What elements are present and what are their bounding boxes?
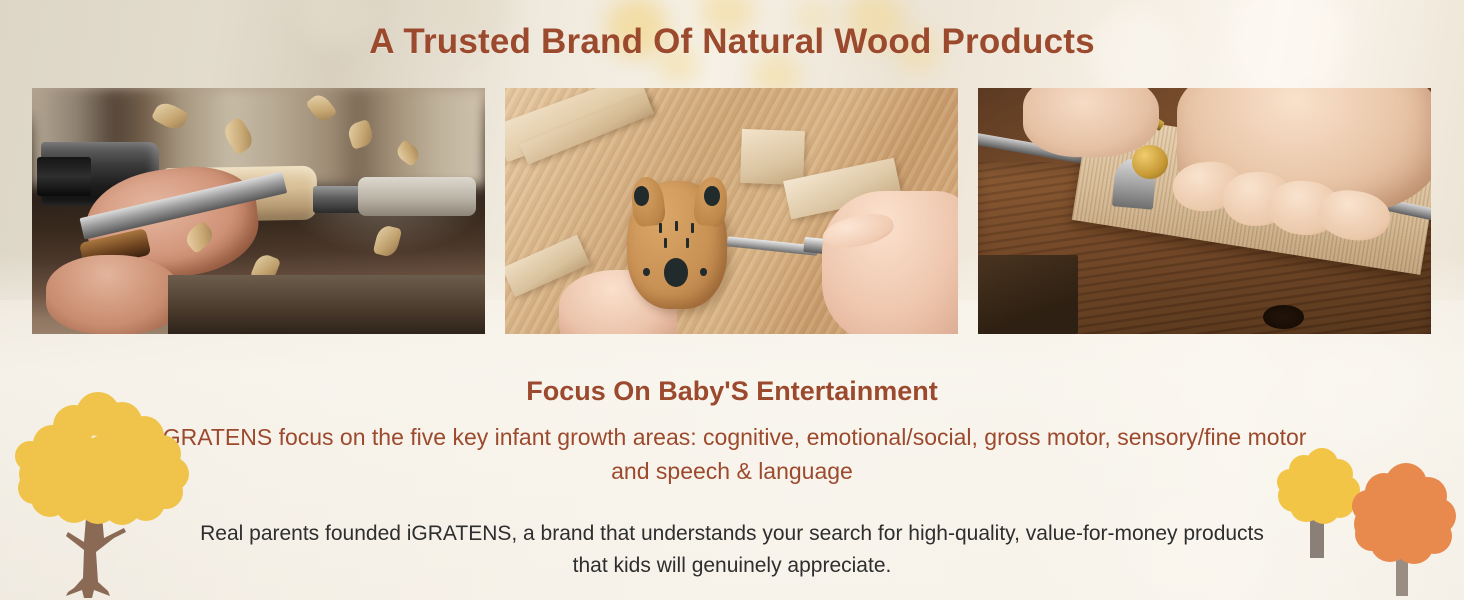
bench-dog-hole	[1263, 305, 1304, 330]
tree-orange-icon	[1348, 462, 1458, 600]
bunny-whisker	[664, 238, 667, 248]
lathe-chuck-rear	[37, 157, 91, 196]
body-paragraph: Real parents founded iGRATENS, a brand t…	[190, 518, 1274, 582]
bunny-whisker	[659, 223, 662, 233]
left-hand	[1023, 88, 1159, 157]
section-subtitle: Focus On Baby'S Entertainment	[0, 376, 1464, 407]
wood-block	[740, 129, 805, 185]
lathe-tailstock	[358, 177, 476, 216]
bunny-eye-right	[704, 186, 719, 206]
lead-paragraph: iGRATENS focus on the five key infant gr…	[150, 420, 1314, 488]
brand-banner: A Trusted Brand Of Natural Wood Products	[0, 0, 1464, 600]
craftsman-hand-lower	[46, 255, 182, 334]
dark-wood-block	[978, 255, 1078, 334]
bunny-whisker	[675, 221, 678, 231]
carving-hand	[822, 191, 958, 334]
brass-thumbscrew	[1132, 145, 1168, 179]
bunny-whisker	[691, 223, 694, 233]
photo-carving-wooden-bunny-toy	[505, 88, 958, 334]
photo-wood-lathe-turning	[32, 88, 485, 334]
page-title: A Trusted Brand Of Natural Wood Products	[0, 22, 1464, 62]
wood-shaving	[373, 223, 402, 257]
bunny-whisker	[686, 238, 689, 248]
lathe-bed	[168, 275, 485, 334]
photo-gallery	[32, 88, 1432, 334]
tree-yellow-large-icon	[8, 392, 198, 600]
photo-marking-wood-with-gauge	[978, 88, 1431, 334]
